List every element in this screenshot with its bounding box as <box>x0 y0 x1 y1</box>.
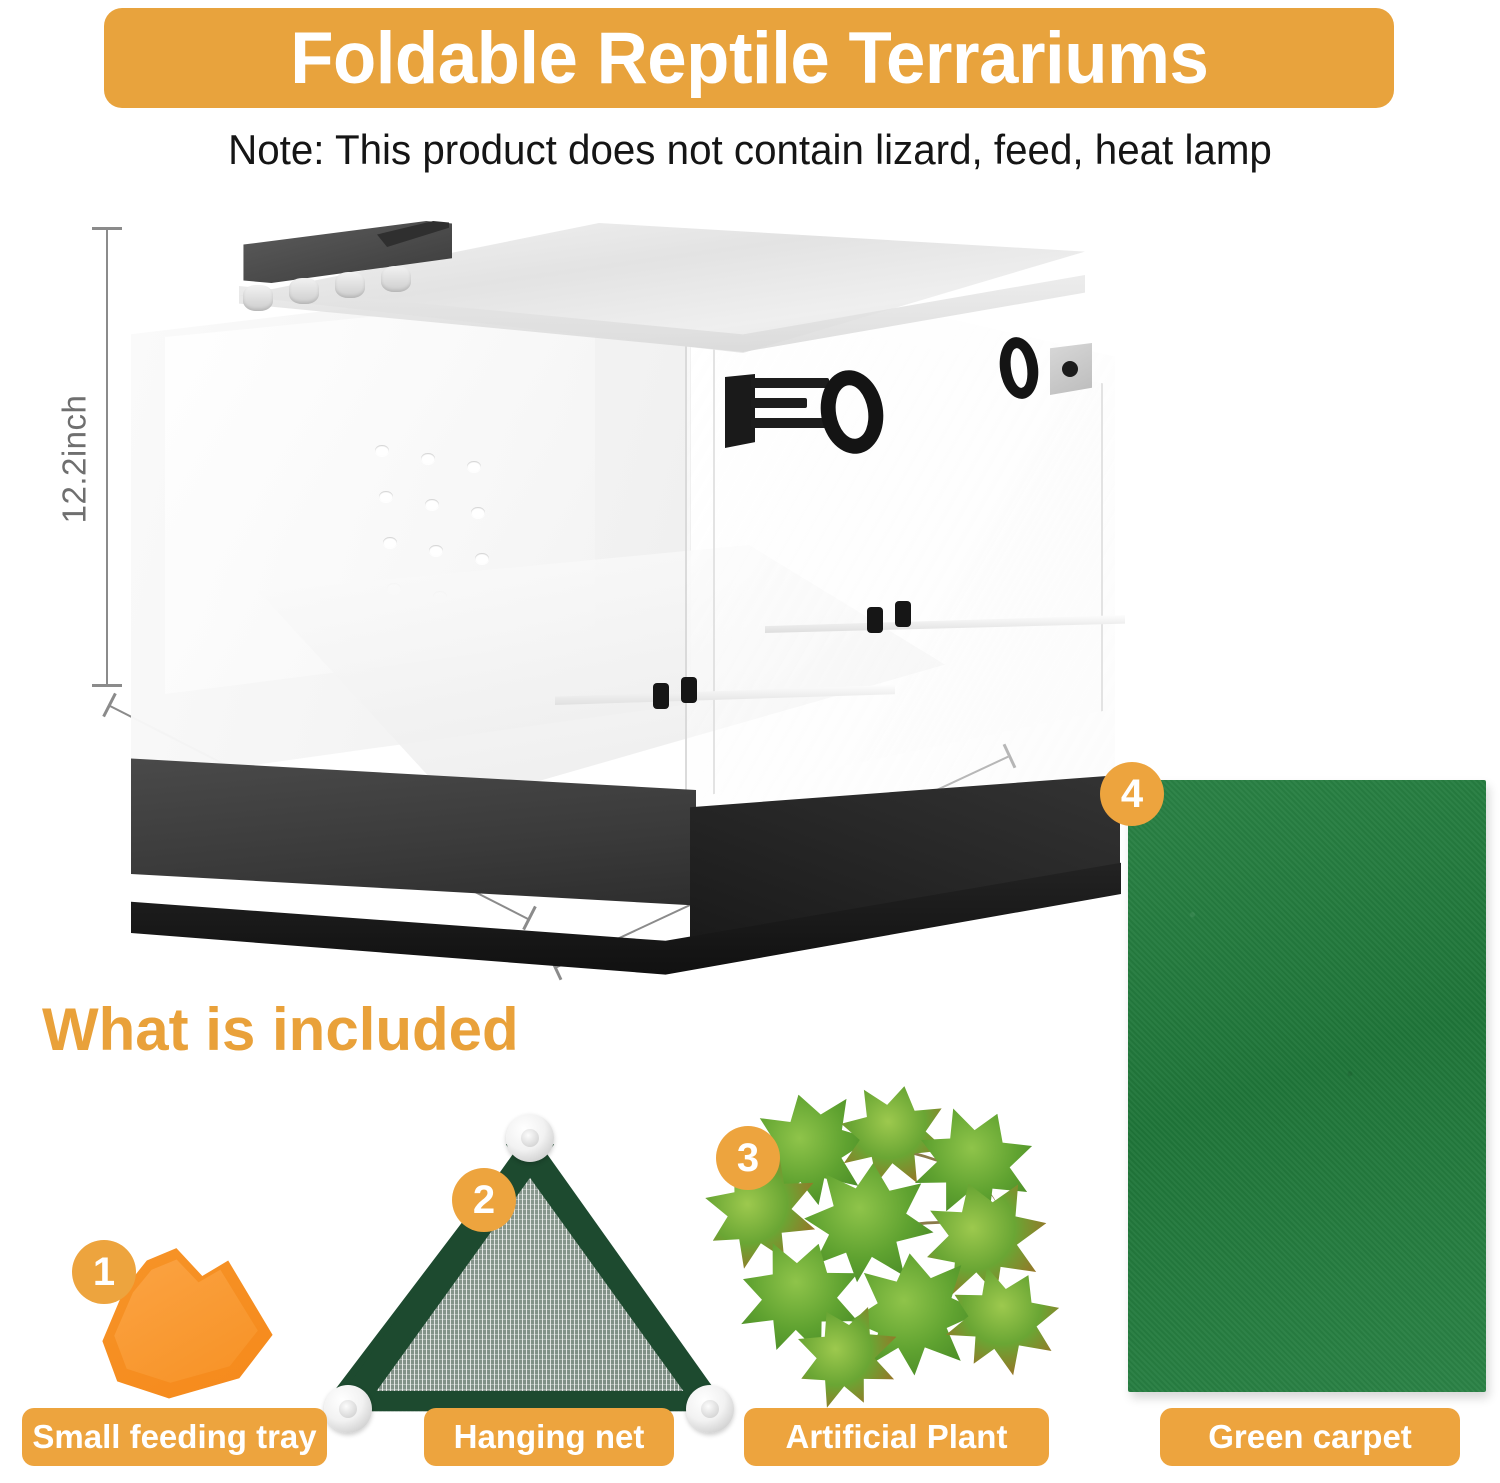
caption-artificial-plant: Artificial Plant <box>744 1408 1049 1466</box>
rail-stop-d <box>681 677 697 703</box>
product-note: Note: This product does not contain liza… <box>30 126 1470 174</box>
caption-green-carpet: Green carpet <box>1160 1408 1460 1466</box>
product-infographic: Foldable Reptile Terrariums Note: This p… <box>0 0 1500 1483</box>
caption-small-feeding-tray: Small feeding tray <box>22 1408 327 1466</box>
latch-keeper-dot <box>1062 361 1078 377</box>
badge-1: 1 <box>72 1240 136 1304</box>
terrarium-illustration <box>125 215 1125 975</box>
rail-stop-b <box>895 601 911 627</box>
badge-2: 2 <box>452 1168 516 1232</box>
rail-stop-c <box>653 683 669 709</box>
product-photo: 12.2inch 12.6inch 21.7inch <box>70 205 1090 995</box>
height-tick-bottom <box>92 684 122 687</box>
rail-stop-a <box>867 607 883 633</box>
height-dimension-label: 12.2inch <box>55 395 93 524</box>
page-title: Foldable Reptile Terrariums <box>290 17 1208 100</box>
door-latch-left <box>725 350 910 470</box>
latch-fingers <box>751 376 831 448</box>
suction-cup-left <box>324 1385 372 1433</box>
hanging-net-image <box>330 1130 730 1420</box>
title-banner: Foldable Reptile Terrariums <box>104 8 1394 108</box>
green-carpet-image <box>1128 780 1486 1392</box>
badge-4: 4 <box>1100 762 1164 826</box>
latch-ring-small-icon <box>996 335 1042 402</box>
badge-3: 3 <box>716 1126 780 1190</box>
included-heading: What is included <box>42 995 519 1064</box>
hinge-knuckles <box>243 267 463 301</box>
caption-hanging-net: Hanging net <box>424 1408 674 1466</box>
height-tick-top <box>92 227 122 230</box>
suction-cup-top <box>506 1114 554 1162</box>
height-dimension-line <box>106 227 108 687</box>
door-latch-right <box>1000 335 1110 417</box>
depth-tick-start <box>102 693 116 718</box>
base-front <box>131 755 696 930</box>
